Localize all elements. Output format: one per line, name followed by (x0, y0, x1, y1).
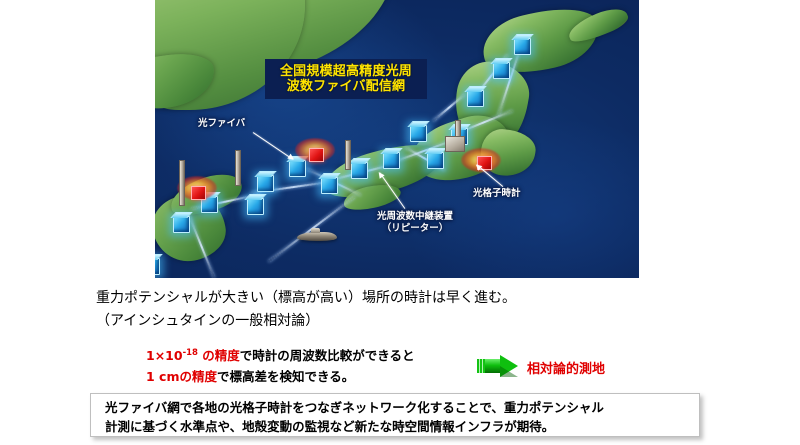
relativity-statement: 重力ポテンシャルが大きい（標高が高い）場所の時計は早く進む。 （アインシュタイン… (96, 288, 696, 334)
repeater-node (257, 175, 274, 192)
optical-clock-marker (191, 186, 206, 200)
repeater-node (351, 162, 368, 179)
precision-statement: 1×10-18 の精度で時計の周波数比較ができると 1 cmの精度で標高差を検知… (146, 347, 476, 389)
map-title-banner: 全国規模超高精度光周 波数ファイバ配信網 (265, 59, 427, 99)
precision-line-2: 1 cmの精度で標高差を検知できる。 (146, 368, 476, 386)
callout-optical-fiber: 光ファイバ (198, 118, 245, 130)
japan-fiber-network-map: 全国規模超高精度光周 波数ファイバ配信網 光ファイバ 光周波数中継装置 （リピー… (155, 0, 639, 278)
precision-value-frequency: 1×10 (146, 348, 183, 363)
precision-value-height: 1 cm (146, 369, 179, 384)
callout-repeater-line-1: 光周波数中継装置 (377, 211, 453, 223)
map-title-line-2: 波数ファイバ配信網 (267, 78, 425, 93)
precision-accuracy-label-2: の精度 (179, 369, 217, 384)
conclusion-line-2: 計測に基づく水準点や、地殻変動の監視など新たな時空間情報インフラが期待。 (105, 418, 689, 436)
repeater-node (514, 38, 531, 55)
arrow-stripes (477, 359, 485, 373)
green-arrow-icon (477, 355, 521, 377)
precision-exponent: -18 (183, 348, 198, 358)
ship-icon (297, 232, 337, 241)
conclusion-line-1: 光ファイバ網で各地の光格子時計をつなぎネットワーク化することで、重力ポテンシャル (105, 399, 689, 417)
callout-optical-lattice-clock: 光格子時計 (473, 188, 521, 200)
precision-line-1: 1×10-18 の精度で時計の周波数比較ができると (146, 347, 476, 365)
optical-clock-marker (309, 148, 324, 162)
statement-line-1: 重力ポテンシャルが大きい（標高が高い）場所の時計は早く進む。 (96, 288, 696, 309)
precision-accuracy-label-1: の精度 (198, 348, 240, 363)
antenna-tower-icon (345, 140, 351, 170)
repeater-node (173, 216, 190, 233)
map-title-line-1: 全国規模超高精度光周 (267, 63, 425, 78)
repeater-node (383, 152, 400, 169)
precision-line-1-rest: で時計の周波数比較ができると (240, 348, 415, 363)
callout-repeater-line-2: （リピーター） (377, 223, 453, 235)
repeater-node (493, 62, 510, 79)
arrow-shaft (485, 359, 501, 373)
antenna-tower-icon (235, 150, 241, 186)
repeater-node (427, 152, 444, 169)
repeater-node (155, 258, 160, 275)
arrow-head-shading (500, 366, 518, 377)
relativistic-geodesy-label: 相対論的測地 (527, 358, 605, 377)
repeater-node (321, 177, 338, 194)
research-facility-icon (445, 136, 465, 152)
conclusion-box: 光ファイバ網で各地の光格子時計をつなぎネットワーク化することで、重力ポテンシャル… (90, 393, 700, 437)
callout-repeater: 光周波数中継装置 （リピーター） (377, 211, 453, 235)
precision-line-2-rest: で標高差を検知できる。 (217, 369, 354, 384)
antenna-tower-icon (179, 160, 185, 206)
callout-optical-lattice-clock-label: 光格子時計 (473, 188, 521, 199)
statement-line-2: （アインシュタインの一般相対論） (96, 311, 696, 332)
leader-line-optical-fiber (253, 132, 293, 160)
repeater-node (410, 125, 427, 142)
repeater-node (467, 90, 484, 107)
callout-optical-fiber-label: 光ファイバ (198, 118, 245, 129)
repeater-node (247, 198, 264, 215)
